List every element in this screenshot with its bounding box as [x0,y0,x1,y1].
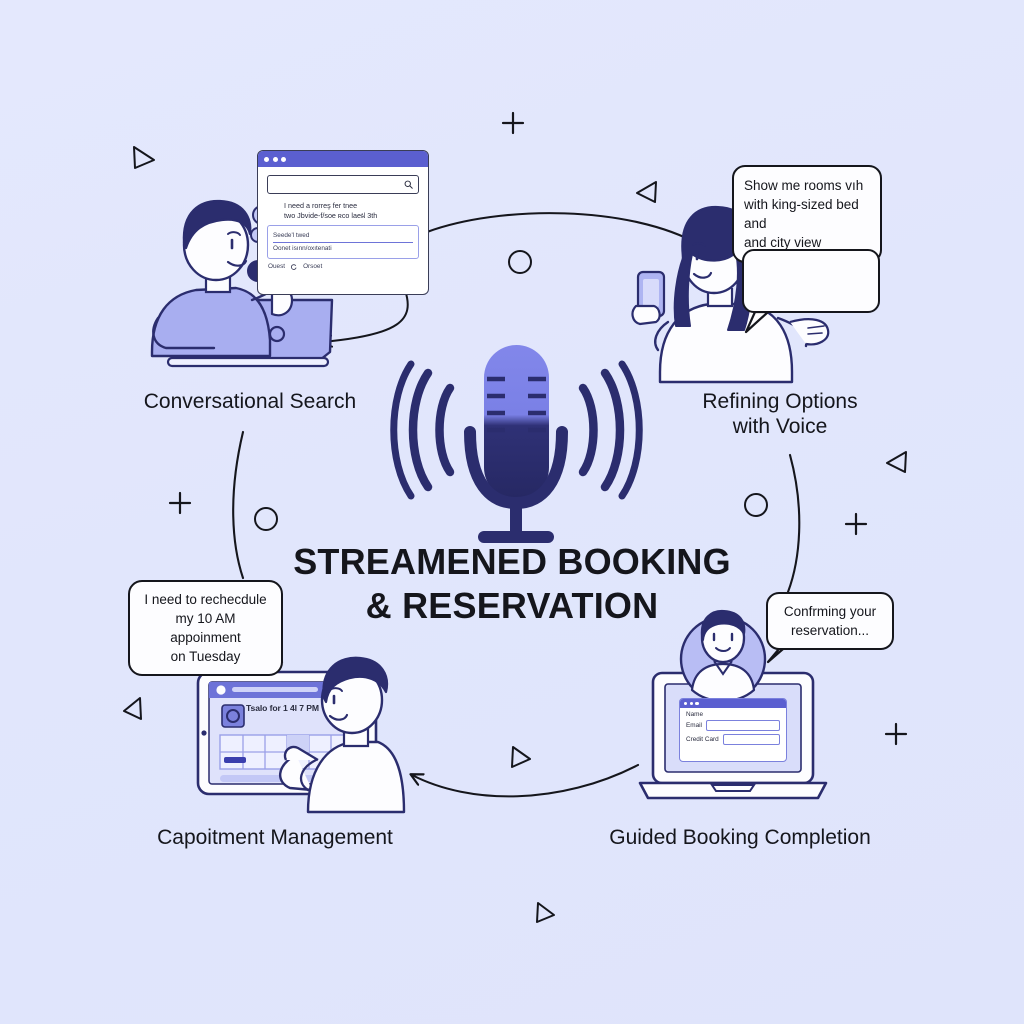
page-title: STREAMENED BOOKING & RESERVATION [0,540,1024,628]
window-dot-maximize[interactable] [695,702,698,705]
window-dot-minimize[interactable] [690,702,693,705]
result-line-2: Oonet isınn/oxıtenati [273,243,413,254]
form-row-name: Name [680,708,786,718]
node-label-line-2: with Voice [620,414,940,439]
browser-window[interactable]: I need a rorreş fer tnee two Jbvide-f/so… [257,150,429,295]
magnifier-icon [404,180,413,189]
arrow-top-left-to-right [427,213,700,245]
query-line-2: two Jbvide-f/soe ʀᴄᴏ laeฝ 3th [284,211,419,221]
illustration-tablet-scheduling [198,658,404,812]
window-dot-minimize[interactable] [273,157,278,162]
footer-label-right: Orsoet [303,263,322,270]
title-line-2: & RESERVATION [0,584,1024,628]
window-dot-close[interactable] [264,157,269,162]
node-label-conversational-search: Conversational Search [90,389,410,414]
options-bubble [742,249,880,313]
result-footer: Ouest Orsoet [267,263,419,270]
window-dot-maximize[interactable] [281,157,286,162]
booking-form-window[interactable]: Name Email Credit Card [679,698,787,762]
form-row-email: Email [680,718,786,732]
connectors-and-decorations [0,0,1024,1024]
form-row-credit-card: Credit Card [680,731,786,745]
window-dot-close[interactable] [684,702,687,705]
node-label-line-1: Refining Options [620,389,940,414]
form-window-titlebar [680,699,786,708]
node-label-appointment-management: Capoitment Management [115,825,435,850]
search-query-text: I need a rorreş fer tnee two Jbvide-f/so… [267,201,419,221]
email-field-label: Email [686,722,702,729]
footer-label-left: Ouest [268,263,285,270]
bubble-line-1: Show me rooms vıh [744,176,870,195]
arrow-bottom-right-to-left [412,765,638,796]
credit-card-field-label: Credit Card [686,736,719,743]
bubble-line-3: on Tuesday [139,647,272,666]
node-label-guided-booking: Guided Booking Completion [580,825,900,850]
credit-card-field-input[interactable] [723,734,780,745]
node-label-refining-options: Refining Options with Voice [620,389,940,439]
query-line-1: I need a rorreş fer tnee [284,201,419,211]
search-result-card[interactable]: Seede'l twed Oonet isınn/oxıtenati [267,225,419,259]
bubble-line-2: with king-sized bed and [744,195,870,233]
result-line-1: Seede'l twed [273,230,413,243]
email-field-input[interactable] [706,720,780,731]
microphone-icon [394,345,640,543]
arrow-browser-to-laptop [322,290,408,342]
search-input[interactable] [267,175,419,194]
infographic-canvas: I need a rorreş fer tnee two Jbvide-f/so… [0,0,1024,1024]
browser-body: I need a rorreş fer tnee two Jbvide-f/so… [258,167,428,270]
tablet-calendar-text: Tsalo for 1 4l 7 PM [246,703,319,713]
title-line-1: STREAMENED BOOKING [293,541,731,582]
browser-titlebar [258,151,428,167]
name-field-label: Name [686,711,703,718]
refresh-icon [291,264,297,270]
